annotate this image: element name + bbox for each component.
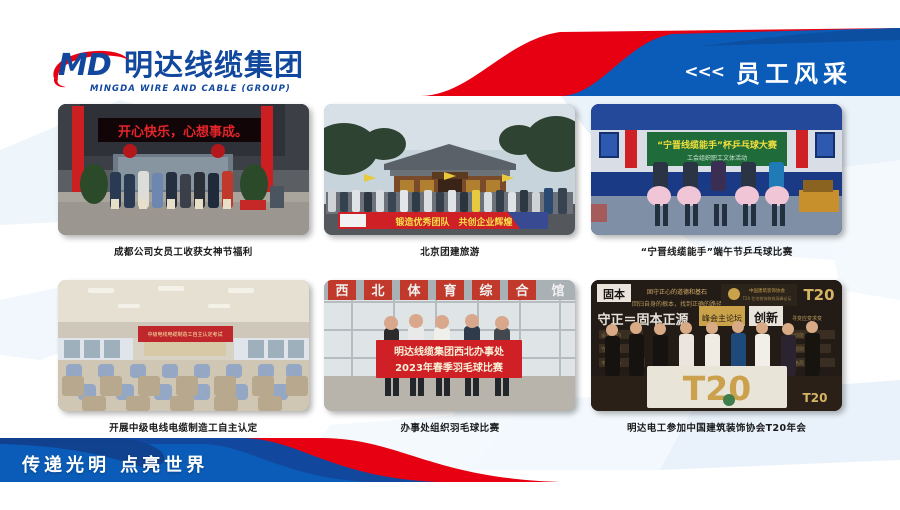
logo-brand-cn: 明达线缆集团 (124, 49, 304, 81)
gallery-item[interactable]: 中级电线电缆制造工自主认定考试 (50, 280, 317, 434)
logo-mark: MD (44, 48, 130, 88)
photo-2-image: 锻造优秀团队 共创企业辉煌 (324, 104, 575, 235)
gallery-item[interactable]: 固本 固守正心的道德和基石 回归自身的根本，找到正确的路径 中国建筑装饰协会 T… (583, 280, 850, 434)
slide-page: MD 明达线缆集团 MINGDA WIRE AND CABLE (GROUP) … (0, 0, 900, 510)
photo-6-image: 固本 固守正心的道德和基石 回归自身的根本，找到正确的路径 中国建筑装饰协会 T… (591, 280, 842, 411)
svg-text:合: 合 (516, 283, 530, 299)
gallery-item[interactable]: 锻造优秀团队 共创企业辉煌 北京团建旅游 (317, 104, 584, 258)
svg-text:“宁晋线缆能手”杯乒乓球大赛: “宁晋线缆能手”杯乒乓球大赛 (657, 139, 778, 151)
svg-text:寻变应变求变: 寻变应变求变 (792, 315, 822, 322)
svg-text:T20: T20 (683, 369, 751, 408)
photo-thumbnail[interactable]: 开心快乐，心想事成。 (58, 104, 309, 235)
chevrons-left-icon: <<< (684, 62, 724, 82)
logo-initials: MD (58, 50, 111, 82)
photo-caption: 成都公司女员工收获女神节福利 (114, 244, 253, 258)
footer-slogan: 传递光明 点亮世界 (22, 451, 208, 477)
photo-thumbnail[interactable]: 锻造优秀团队 共创企业辉煌 (324, 104, 575, 235)
photo-thumbnail[interactable]: 西北体 育综合馆 (324, 280, 575, 411)
section-title-group: <<< 员工风采 (684, 54, 852, 89)
photo-gallery: 开心快乐，心想事成。 (0, 104, 900, 434)
photo-1-image: 开心快乐，心想事成。 (58, 104, 309, 235)
photo-thumbnail[interactable]: 中级电线电缆制造工自主认定考试 (58, 280, 309, 411)
photo-5-image: 西北体 育综合馆 (324, 280, 575, 411)
photo-thumbnail[interactable]: 固本 固守正心的道德和基石 回归自身的根本，找到正确的路径 中国建筑装饰协会 T… (591, 280, 842, 411)
photo-caption: 北京团建旅游 (420, 244, 479, 258)
svg-text:固守正心的道德和基石: 固守正心的道德和基石 (647, 288, 707, 296)
svg-text:T20: T20 (803, 391, 828, 405)
svg-text:中级电线电缆制造工自主认定考试: 中级电线电缆制造工自主认定考试 (147, 331, 222, 338)
svg-text:体: 体 (408, 283, 422, 299)
gallery-item[interactable]: “宁晋线缆能手”杯乒乓球大赛 工会组织职工文体活动 (583, 104, 850, 258)
svg-text:创新: 创新 (753, 310, 778, 325)
svg-text:综: 综 (480, 283, 493, 299)
company-logo: MD 明达线缆集团 MINGDA WIRE AND CABLE (GROUP) (44, 48, 304, 88)
gallery-item[interactable]: 西北体 育综合馆 (317, 280, 584, 434)
svg-text:西: 西 (336, 284, 349, 299)
svg-text:育: 育 (444, 283, 457, 299)
photo-4-image: 中级电线电缆制造工自主认定考试 (58, 280, 309, 411)
logo-brand-en: MINGDA WIRE AND CABLE (GROUP) (90, 84, 291, 94)
svg-text:T20 住宅装饰装修高峰论坛: T20 住宅装饰装修高峰论坛 (742, 295, 792, 301)
page-footer: 传递光明 点亮世界 (0, 430, 900, 510)
gallery-item[interactable]: 开心快乐，心想事成。 (50, 104, 317, 258)
svg-text:2023年春季羽毛球比赛: 2023年春季羽毛球比赛 (396, 361, 505, 374)
svg-text:锻造优秀团队 共创企业辉煌: 锻造优秀团队 共创企业辉煌 (396, 216, 513, 228)
svg-text:T20: T20 (804, 286, 835, 304)
page-title: 员工风采 (736, 54, 852, 89)
svg-text:中国建筑装饰协会: 中国建筑装饰协会 (749, 287, 785, 294)
svg-text:北: 北 (372, 284, 385, 299)
svg-text:开心快乐，心想事成。: 开心快乐，心想事成。 (118, 124, 248, 140)
photo-thumbnail[interactable]: “宁晋线缆能手”杯乒乓球大赛 工会组织职工文体活动 (591, 104, 842, 235)
svg-text:工会组织职工文体活动: 工会组织职工文体活动 (687, 154, 747, 162)
svg-text:馆: 馆 (552, 283, 565, 299)
page-header: MD 明达线缆集团 MINGDA WIRE AND CABLE (GROUP) … (0, 0, 900, 110)
photo-caption: “宁晋线缆能手”端午节乒乓球比赛 (641, 244, 793, 258)
photo-3-image: “宁晋线缆能手”杯乒乓球大赛 工会组织职工文体活动 (591, 104, 842, 235)
svg-text:固本: 固本 (603, 287, 625, 301)
svg-text:明达线缆集团西北办事处: 明达线缆集团西北办事处 (394, 345, 505, 358)
